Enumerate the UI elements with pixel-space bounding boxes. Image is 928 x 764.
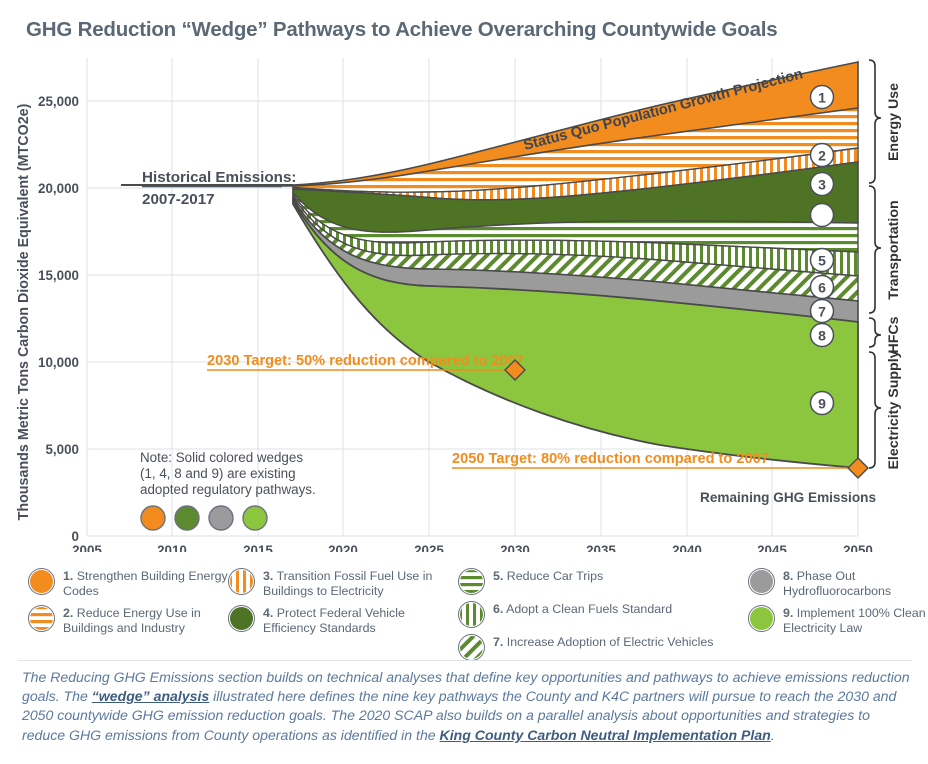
legend-number-7: 7. (493, 635, 503, 649)
legend-number-8: 8. (783, 569, 793, 583)
wedge-marker-4: 4 (811, 204, 834, 227)
wedge-marker-9: 9 (811, 392, 834, 415)
legend-swatch-solid-lightgreen-icon (748, 605, 775, 632)
chart-container: 2030 Target: 50% reduction compared to 2… (0, 52, 928, 552)
svg-text:2005: 2005 (72, 543, 102, 552)
remaining-emissions-label: Remaining GHG Emissions (700, 490, 876, 505)
legend-number-9: 9. (783, 606, 793, 620)
legend-swatch-diagonal-green-icon (458, 634, 485, 661)
historical-emissions-line1: Historical Emissions: (142, 169, 296, 186)
svg-text:20,000: 20,000 (38, 181, 79, 196)
legend-column-1: 1. Strengthen Building Energy Codes 2. R… (28, 568, 228, 642)
legend-label-4: Protect Federal Vehicle Efficiency Stand… (263, 606, 405, 635)
y-axis: 0 5,000 10,000 15,000 20,000 25,000 (38, 94, 79, 544)
legend-label-9: Implement 100% Clean Electricity Law (783, 606, 926, 635)
svg-text:HFCs: HFCs (886, 316, 902, 353)
legend-swatch-vlines-green-icon (458, 601, 485, 628)
legend-label-5: Reduce Car Trips (507, 569, 603, 583)
wedge-marker-2: 2 (811, 144, 834, 167)
legend-item-9[interactable]: 9. Implement 100% Clean Electricity Law (748, 605, 928, 636)
y-axis-title: Thousands Metric Tons Carbon Dioxide Equ… (16, 103, 32, 520)
svg-text:5: 5 (818, 253, 826, 269)
svg-text:6: 6 (818, 280, 826, 296)
ghg-wedge-figure: GHG Reduction “Wedge” Pathways to Achiev… (0, 0, 928, 764)
legend-item-4[interactable]: 4. Protect Federal Vehicle Efficiency St… (228, 605, 443, 636)
svg-text:2035: 2035 (586, 543, 616, 552)
svg-text:15,000: 15,000 (38, 268, 79, 283)
caption-link-implementation-plan[interactable]: King County Carbon Neutral Implementatio… (440, 727, 771, 743)
svg-text:9: 9 (818, 396, 826, 412)
legend-item-6[interactable]: 6. Adopt a Clean Fuels Standard (458, 601, 748, 628)
svg-text:2050: 2050 (843, 543, 873, 552)
legend-item-3[interactable]: 3. Transition Fossil Fuel Use in Buildin… (228, 568, 443, 599)
legend-item-8[interactable]: 8. Phase Out Hydrofluorocarbons (748, 568, 928, 599)
svg-text:(1, 4, 8 and 9) are existing: (1, 4, 8 and 9) are existing (140, 466, 296, 481)
svg-text:2045: 2045 (757, 543, 787, 552)
note-swatch-2 (175, 506, 199, 530)
legend-number-4: 4. (263, 606, 273, 620)
legend-number-6: 6. (493, 602, 503, 616)
category-brackets (869, 60, 881, 468)
legend-number-1: 1. (63, 569, 73, 583)
target-2050-label: 2050 Target: 80% reduction compared to 2… (452, 451, 769, 467)
legend-column-3: 5. Reduce Car Trips 6. Adopt a Clean Fue… (458, 568, 748, 667)
legend-number-3: 3. (263, 569, 273, 583)
svg-text:0: 0 (72, 529, 79, 544)
legend-label-2: Reduce Energy Use in Buildings and Indus… (63, 606, 201, 635)
svg-text:4: 4 (818, 208, 826, 224)
note-box: Note: Solid colored wedges (1, 4, 8 and … (140, 450, 316, 530)
wedge-marker-3: 3 (811, 173, 834, 196)
historical-emissions-line2: 2007-2017 (142, 191, 215, 208)
legend-item-2[interactable]: 2. Reduce Energy Use in Buildings and In… (28, 605, 228, 636)
svg-text:2020: 2020 (328, 543, 358, 552)
legend-item-7[interactable]: 7. Increase Adoption of Electric Vehicle… (458, 634, 748, 661)
category-bracket-labels: Energy Use Transportation HFCs Electrici… (886, 83, 902, 470)
svg-text:3: 3 (818, 177, 826, 193)
wedge-marker-1: 1 (811, 86, 834, 109)
wedge-marker-8: 8 (811, 324, 834, 347)
legend-label-7: Increase Adoption of Electric Vehicles (507, 635, 714, 649)
caption-link-wedge-analysis[interactable]: “wedge” analysis (92, 688, 210, 704)
legend-number-2: 2. (63, 606, 73, 620)
chart-legend: 1. Strengthen Building Energy Codes 2. R… (0, 568, 928, 660)
wedge-marker-5: 5 (811, 249, 834, 272)
svg-text:Electricity Supply: Electricity Supply (886, 350, 902, 469)
wedge-marker-7: 7 (811, 300, 834, 323)
caption-divider (18, 660, 912, 661)
legend-swatch-hlines-orange-icon (28, 605, 55, 632)
legend-swatch-solid-orange-icon (28, 568, 55, 595)
svg-text:2: 2 (818, 148, 826, 164)
svg-text:2015: 2015 (243, 543, 273, 552)
legend-label-8: Phase Out Hydrofluorocarbons (783, 569, 891, 598)
x-axis: 2005 2010 2015 2020 2025 2030 2035 2040 … (72, 543, 873, 552)
svg-text:8: 8 (818, 328, 826, 344)
svg-text:5,000: 5,000 (45, 442, 79, 457)
legend-swatch-solid-deepgreen-icon (228, 605, 255, 632)
note-swatch-4 (243, 506, 267, 530)
legend-column-2: 3. Transition Fossil Fuel Use in Buildin… (228, 568, 443, 642)
caption-part-3: . (771, 727, 775, 743)
legend-label-6: Adopt a Clean Fuels Standard (506, 602, 672, 616)
svg-text:2040: 2040 (672, 543, 702, 552)
svg-text:Transportation: Transportation (886, 200, 902, 299)
svg-text:adopted regulatory pathways.: adopted regulatory pathways. (140, 482, 316, 497)
note-swatch-1 (141, 506, 165, 530)
legend-number-5: 5. (493, 569, 503, 583)
svg-text:10,000: 10,000 (38, 355, 79, 370)
legend-column-4: 8. Phase Out Hydrofluorocarbons 9. Imple… (748, 568, 928, 642)
svg-text:Note: Solid colored wedges: Note: Solid colored wedges (140, 450, 303, 465)
svg-text:2025: 2025 (414, 543, 444, 552)
legend-label-1: Strengthen Building Energy Codes (63, 569, 228, 598)
target-2030-label: 2030 Target: 50% reduction compared to 2… (207, 353, 524, 369)
svg-text:2030: 2030 (500, 543, 530, 552)
svg-text:Energy Use: Energy Use (886, 83, 902, 161)
page-title: GHG Reduction “Wedge” Pathways to Achiev… (26, 18, 906, 42)
legend-swatch-hlines-green-icon (458, 568, 485, 595)
svg-text:7: 7 (818, 304, 826, 320)
svg-text:1: 1 (818, 90, 826, 106)
note-swatch-3 (209, 506, 233, 530)
wedge-chart-svg: 2030 Target: 50% reduction compared to 2… (0, 52, 928, 552)
legend-item-5[interactable]: 5. Reduce Car Trips (458, 568, 748, 595)
svg-text:2010: 2010 (157, 543, 187, 552)
figure-caption: The Reducing GHG Emissions section build… (22, 668, 912, 745)
legend-swatch-vlines-orange-icon (228, 568, 255, 595)
svg-text:25,000: 25,000 (38, 94, 79, 109)
wedge-marker-6: 6 (811, 276, 834, 299)
legend-item-1[interactable]: 1. Strengthen Building Energy Codes (28, 568, 228, 599)
legend-swatch-solid-gray-icon (748, 568, 775, 595)
legend-label-3: Transition Fossil Fuel Use in Buildings … (263, 569, 432, 598)
